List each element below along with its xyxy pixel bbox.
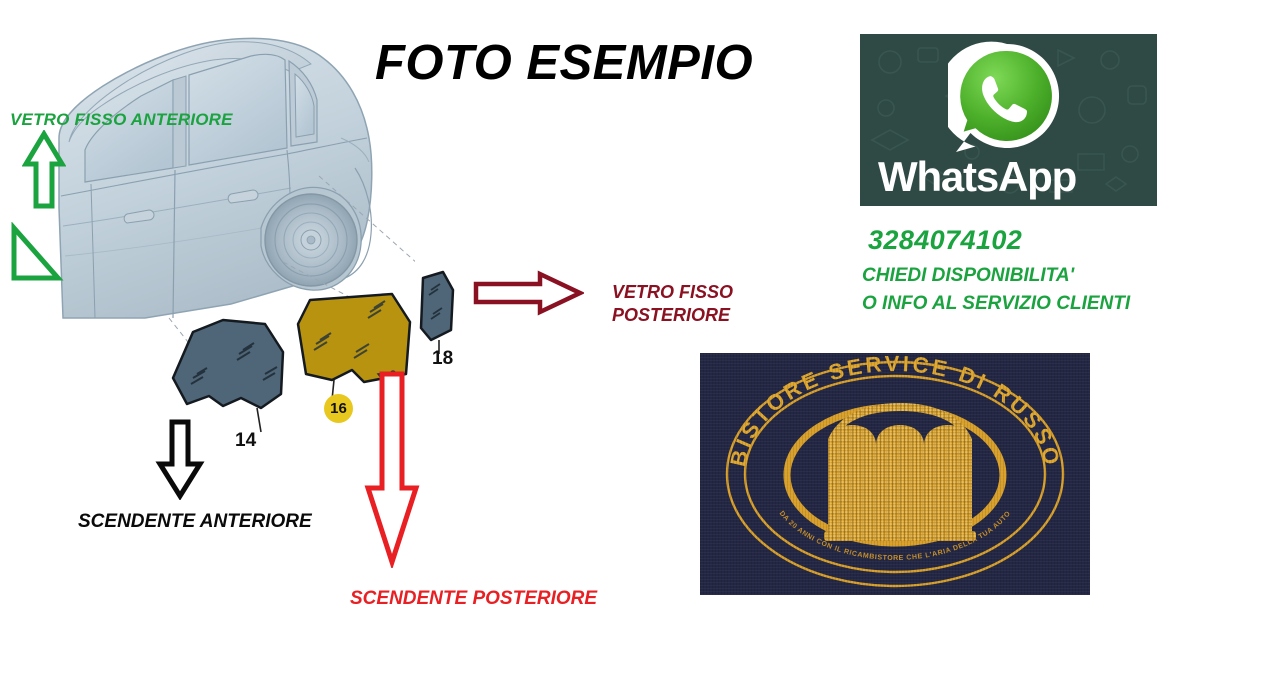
part-number-14: 14 <box>235 430 256 452</box>
whatsapp-logo-icon <box>948 40 1066 158</box>
label-vetro-fisso-posteriore-line1: VETRO FISSO <box>612 281 787 304</box>
arrow-down-black-icon <box>155 418 205 500</box>
whatsapp-cta-line-2: O INFO AL SERVIZIO CLIENTI <box>862 293 1130 315</box>
whatsapp-wordmark: WhatsApp <box>878 156 1076 198</box>
part-14-front-drop-glass <box>165 312 295 430</box>
label-vetro-fisso-posteriore: VETRO FISSO POSTERIORE <box>612 281 787 328</box>
image-canvas: FOTO ESEMPIO <box>0 0 1264 678</box>
label-vetro-fisso-anteriore: VETRO FISSO ANTERIORE <box>10 110 233 130</box>
shop-logo-panel: MRICAMBISTORE SERVICE DI RUSSO MARCO <box>700 353 1090 595</box>
triangle-green-icon <box>8 222 64 284</box>
whatsapp-phone-number[interactable]: 3284074102 <box>868 225 1022 256</box>
page-title: FOTO ESEMPIO <box>375 35 753 91</box>
part-number-badge-16: 16 <box>324 394 353 423</box>
part-number-18: 18 <box>432 348 453 370</box>
label-scendente-posteriore: SCENDENTE POSTERIORE <box>350 588 597 610</box>
whatsapp-banner[interactable]: WhatsApp <box>860 34 1157 206</box>
whatsapp-cta-line-1: CHIEDI DISPONIBILITA' <box>862 265 1074 287</box>
arrow-up-green-icon <box>22 130 66 210</box>
arrow-down-red-icon <box>364 370 420 568</box>
part-18-fixed-quarter-glass <box>413 268 459 348</box>
arrow-right-darkred-icon <box>472 270 584 316</box>
label-vetro-fisso-posteriore-line2: POSTERIORE <box>612 304 787 327</box>
shop-logo-emblem-icon: MRICAMBISTORE SERVICE DI RUSSO MARCO <box>700 353 1090 595</box>
label-scendente-anteriore: SCENDENTE ANTERIORE <box>78 511 312 533</box>
